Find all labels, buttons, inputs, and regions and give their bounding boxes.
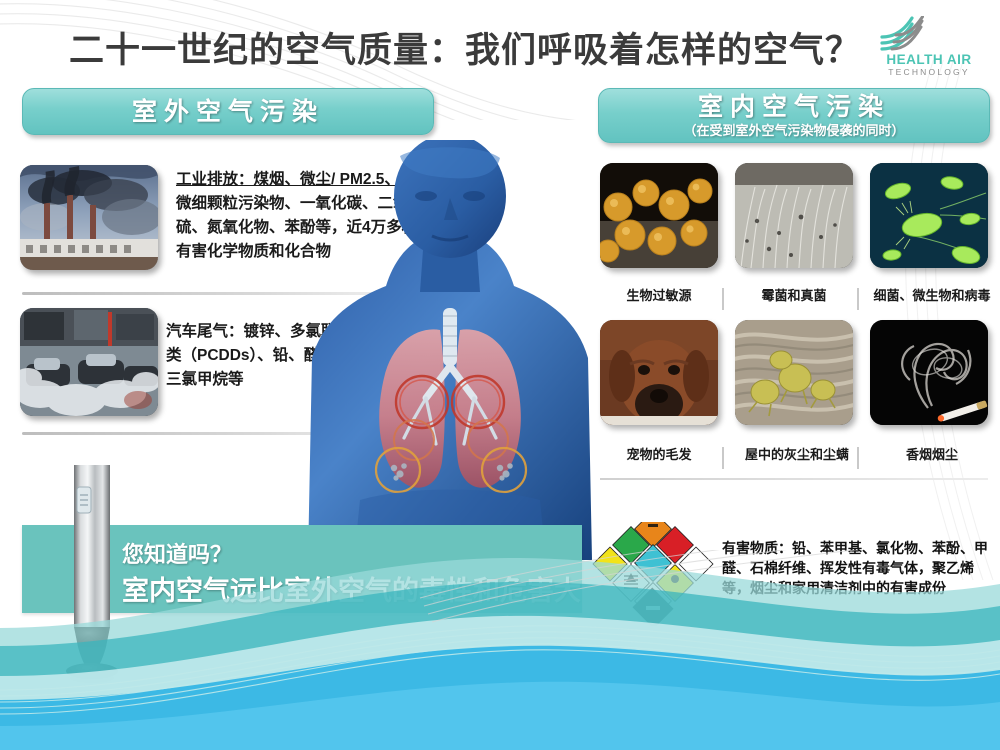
- banner-outdoor-pollution: 室外空气污染: [22, 88, 434, 135]
- cigarette-smoke-photo: [870, 320, 988, 425]
- did-you-know-line2: 室内空气远比室外空气的毒性和危害大: [122, 569, 581, 608]
- slide-canvas: 二十一世纪的空气质量：我们呼吸着怎样的空气？ HEALTH AIR TECHNO…: [0, 0, 1000, 750]
- banner-indoor-subtitle: （在受到室外空气污染物侵袭的同时）: [599, 122, 989, 140]
- page-title: 二十一世纪的空气质量：我们呼吸着怎样的空气？: [60, 22, 870, 73]
- factory-smokestacks-photo: [20, 165, 158, 270]
- pet-dander-dog-photo: [600, 320, 718, 425]
- indoor-caption-4: 宠物的毛发: [594, 446, 724, 464]
- indoor-caption-6: 香烟烟尘: [864, 446, 1000, 464]
- traffic-exhaust-photo: [20, 308, 158, 416]
- did-you-know-line1: 您知道吗？: [122, 537, 232, 569]
- human-torso-lungs-illustration: [300, 140, 600, 560]
- pollen-allergen-photo: [600, 163, 718, 268]
- hazmat-placards-diamond: [592, 522, 714, 626]
- banner-indoor-title: 室内空气污染: [599, 92, 989, 122]
- logo-swoosh-icon: [878, 16, 924, 56]
- mold-fungus-photo: [735, 163, 853, 268]
- indoor-caption-1: 生物过敏源: [594, 287, 724, 305]
- dust-mites-photo: [735, 320, 853, 425]
- brand-logo: HEALTH AIR TECHNOLOGY: [868, 16, 988, 78]
- logo-tagline: TECHNOLOGY: [870, 67, 988, 77]
- indoor-caption-5: 屋中的灰尘和尘螨: [727, 446, 867, 464]
- indoor-caption-2: 霉菌和真菌: [729, 287, 859, 305]
- tower-air-purifier-illustration: [48, 465, 138, 690]
- header: 二十一世纪的空气质量：我们呼吸着怎样的空气？ HEALTH AIR TECHNO…: [0, 8, 1000, 78]
- indoor-caption-3: 细菌、微生物和病毒: [864, 287, 1000, 305]
- bacteria-virus-photo: [870, 163, 988, 268]
- logo-name: HEALTH AIR: [870, 52, 988, 67]
- banner-indoor-pollution: 室内空气污染 （在受到室外空气污染物侵袭的同时）: [598, 88, 990, 143]
- hazard-substances-text: 有害物质：铅、苯甲基、氯化物、苯酚、甲醛、石棉纤维、挥发性有毒气体，聚乙烯等，烟…: [722, 538, 994, 598]
- divider-indoor-bottom: [600, 478, 988, 480]
